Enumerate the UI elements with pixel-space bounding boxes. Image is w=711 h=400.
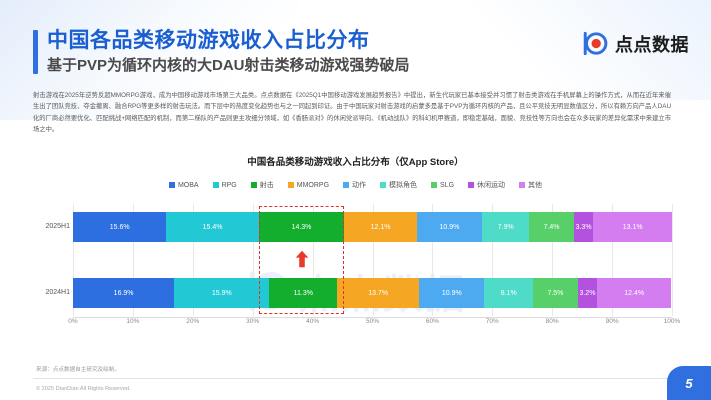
legend-item-射击[interactable]: 射击	[251, 180, 274, 190]
bar-segment-MMORPG[interactable]: 13.7%	[337, 278, 419, 308]
legend-item-休闲运动[interactable]: 休闲运动	[468, 180, 505, 190]
bar-row-label-2025H1: 2025H1	[33, 223, 70, 230]
legend-swatch-icon	[213, 182, 219, 188]
bar-segment-其他[interactable]: 12.4%	[597, 278, 671, 308]
bar-segment-RPG[interactable]: 15.4%	[166, 212, 258, 242]
bar-segment-MMORPG[interactable]: 12.1%	[344, 212, 416, 242]
legend-label: SLG	[440, 182, 454, 189]
legend-label: 射击	[260, 180, 274, 190]
legend-item-其他[interactable]: 其他	[519, 180, 542, 190]
brand-logo: 点点数据	[581, 30, 689, 57]
diandian-d-logo-icon	[581, 30, 608, 57]
bar-segment-休闲运动[interactable]: 3.3%	[574, 212, 594, 242]
bar-row: 15.6%15.4%14.3%12.1%10.9%7.9%7.4%3.3%13.…	[73, 212, 672, 242]
body-paragraph-text: 射击游戏在2025年逆势反超MMORPG游戏，成为中国移动游戏市场第三大品类。点…	[33, 90, 671, 135]
x-axis-tick: 50%	[366, 318, 379, 325]
page-number-badge: 5	[667, 366, 711, 400]
body-paragraph: 射击游戏在2025年逆势反超MMORPG游戏，成为中国移动游戏市场第三大品类。点…	[33, 90, 671, 135]
brand-logo-text: 点点数据	[615, 31, 689, 57]
legend-item-动作[interactable]: 动作	[343, 180, 366, 190]
chart-legend: MOBARPG射击MMORPG动作模拟角色SLG休闲运动其他	[33, 180, 678, 190]
bar-segment-其他[interactable]: 13.1%	[593, 212, 671, 242]
legend-swatch-icon	[343, 182, 349, 188]
legend-swatch-icon	[288, 182, 294, 188]
bar-segment-MOBA[interactable]: 16.9%	[73, 278, 174, 308]
bar-segment-休闲运动[interactable]: 3.2%	[578, 278, 597, 308]
legend-swatch-icon	[380, 182, 386, 188]
bar-segment-SLG[interactable]: 7.4%	[529, 212, 573, 242]
page-subtitle: 基于PVP为循环内核的大DAU射击类移动游戏强势破局	[47, 55, 410, 76]
legend-swatch-icon	[431, 182, 437, 188]
x-axis-tick: 20%	[186, 318, 199, 325]
chart-title: 中国各品类移动游戏收入占比分布（仅App Store）	[33, 154, 678, 168]
bar-segment-动作[interactable]: 10.9%	[417, 212, 482, 242]
stacked-bars: 2025H115.6%15.4%14.3%12.1%10.9%7.9%7.4%3…	[73, 204, 672, 316]
bar-segment-SLG[interactable]: 7.5%	[533, 278, 578, 308]
legend-label: MMORPG	[297, 182, 329, 189]
slide-canvas: 中国各品类移动游戏收入占比分布 基于PVP为循环内核的大DAU射击类移动游戏强势…	[0, 0, 711, 400]
chart-x-axis: 0%10%20%30%40%50%60%70%80%90%100%	[73, 318, 672, 334]
slide-header: 中国各品类移动游戏收入占比分布 基于PVP为循环内核的大DAU射击类移动游戏强势…	[33, 28, 410, 76]
legend-label: 休闲运动	[477, 180, 505, 190]
bar-segment-模拟角色[interactable]: 8.1%	[484, 278, 533, 308]
source-note: 来源：点点数据自主研究及绘制。	[36, 365, 120, 373]
x-axis-tick: 30%	[246, 318, 259, 325]
page-title: 中国各品类移动游戏收入占比分布	[47, 28, 410, 53]
growth-up-arrow-icon	[295, 250, 309, 268]
x-axis-tick: 0%	[68, 318, 77, 325]
x-axis-tick: 90%	[606, 318, 619, 325]
x-axis-tick: 40%	[306, 318, 319, 325]
x-axis-tick: 60%	[426, 318, 439, 325]
legend-item-SLG[interactable]: SLG	[431, 182, 454, 189]
legend-swatch-icon	[468, 182, 474, 188]
chart-plot-area: 2025H115.6%15.4%14.3%12.1%10.9%7.9%7.4%3…	[33, 204, 678, 334]
legend-swatch-icon	[251, 182, 257, 188]
legend-swatch-icon	[169, 182, 175, 188]
title-accent-bar	[33, 30, 38, 74]
bar-row: 16.9%15.9%11.3%13.7%10.9%8.1%7.5%3.2%12.…	[73, 278, 672, 308]
bar-segment-模拟角色[interactable]: 7.9%	[482, 212, 529, 242]
bar-segment-动作[interactable]: 10.9%	[419, 278, 484, 308]
x-axis-tick: 70%	[486, 318, 499, 325]
footer-divider	[33, 378, 678, 379]
legend-label: RPG	[222, 182, 237, 189]
legend-label: 动作	[352, 180, 366, 190]
chart-container: 中国各品类移动游戏收入占比分布（仅App Store） 点点数据 MOBARPG…	[33, 150, 678, 362]
legend-swatch-icon	[519, 182, 525, 188]
bar-segment-射击[interactable]: 11.3%	[269, 278, 337, 308]
bar-segment-MOBA[interactable]: 15.6%	[73, 212, 166, 242]
bar-row-label-2024H1: 2024H1	[33, 289, 70, 296]
legend-label: MOBA	[178, 182, 199, 189]
legend-item-RPG[interactable]: RPG	[213, 182, 237, 189]
x-axis-tick: 80%	[546, 318, 559, 325]
gridline	[672, 204, 673, 316]
bar-segment-RPG[interactable]: 15.9%	[174, 278, 269, 308]
copyright-text: © 2025 DianDian All Rights Reserved.	[36, 386, 131, 392]
legend-item-模拟角色[interactable]: 模拟角色	[380, 180, 417, 190]
legend-label: 模拟角色	[389, 180, 417, 190]
legend-item-MMORPG[interactable]: MMORPG	[288, 182, 329, 189]
bar-segment-射击[interactable]: 14.3%	[259, 212, 345, 242]
legend-item-MOBA[interactable]: MOBA	[169, 182, 199, 189]
x-axis-tick: 100%	[664, 318, 681, 325]
legend-label: 其他	[528, 180, 542, 190]
x-axis-tick: 10%	[126, 318, 139, 325]
